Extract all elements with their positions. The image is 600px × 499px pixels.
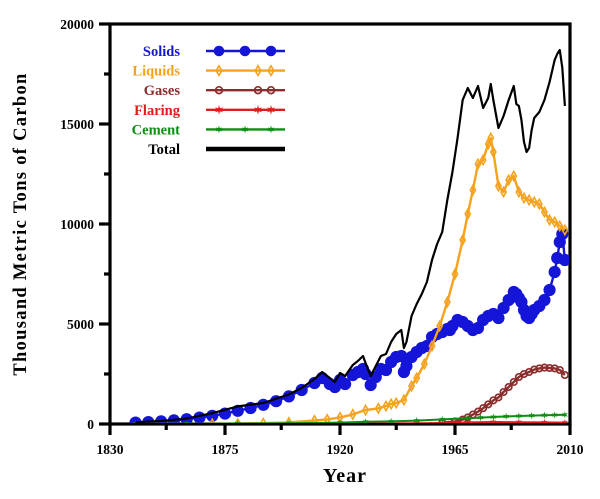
legend-label-solids: Solids	[143, 44, 180, 60]
data-point-marker	[549, 266, 561, 278]
legend-label-flaring: Flaring	[134, 103, 181, 119]
y-tick-label: 15000	[60, 117, 94, 132]
carbon-emissions-chart: 1830187519201965201005000100001500020000…	[0, 0, 600, 499]
x-tick-label: 1830	[97, 442, 124, 457]
y-tick-label: 10000	[60, 217, 94, 232]
y-tick-label: 5000	[67, 317, 94, 332]
legend-label-total: Total	[148, 142, 180, 158]
data-point-marker	[543, 284, 555, 296]
y-tick-label: 0	[87, 417, 94, 432]
data-point-marker	[266, 46, 277, 57]
data-point-marker	[240, 46, 251, 57]
legend-label-gases: Gases	[144, 83, 181, 99]
x-tick-label: 2010	[557, 442, 584, 457]
x-axis-title: Year	[323, 465, 367, 487]
x-tick-label: 1965	[442, 442, 469, 457]
data-point-marker	[214, 46, 225, 57]
legend-label-liquids: Liquids	[132, 64, 180, 80]
y-axis-title: Thousand Metric Tons of Carbon	[11, 72, 31, 375]
x-tick-label: 1920	[327, 442, 354, 457]
legend-label-cement: Cement	[132, 122, 180, 138]
chart-canvas: 1830187519201965201005000100001500020000…	[0, 0, 600, 499]
x-tick-label: 1875	[212, 442, 239, 457]
y-tick-label: 20000	[60, 17, 94, 32]
